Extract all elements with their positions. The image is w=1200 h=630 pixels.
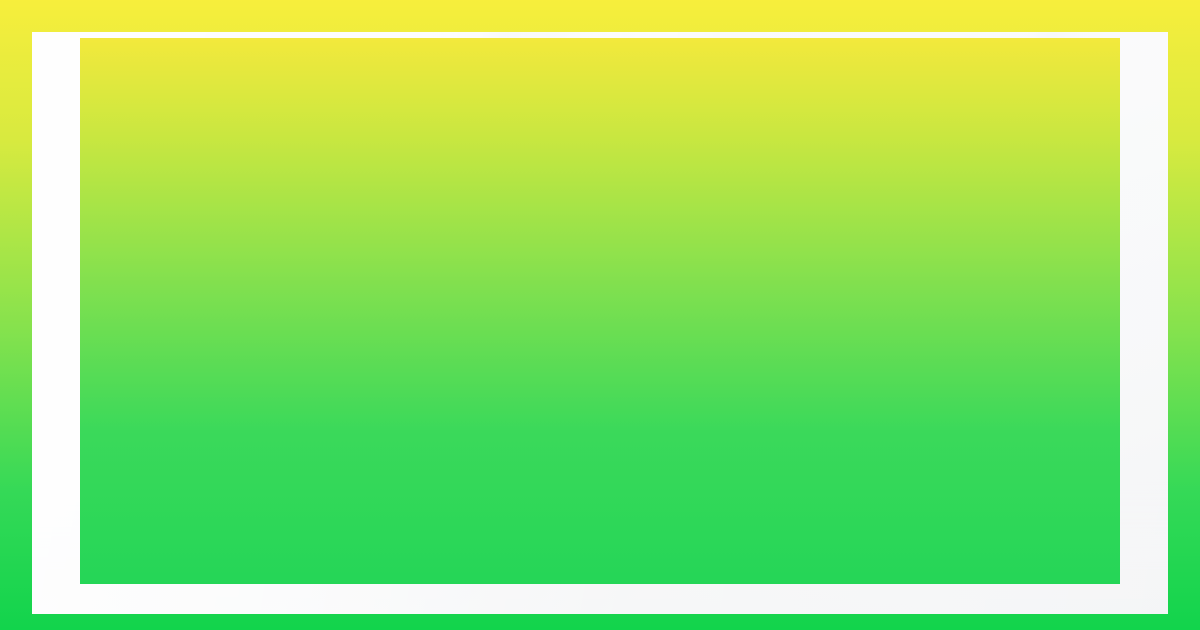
headline-line-2: 분석! 어떤 작품? (120, 310, 1080, 380)
headline-line1-part2: 명작 비교 (609, 240, 836, 305)
headline-line-1: 흥행작 vs 명작 비교 (120, 238, 1080, 310)
page-title: 흥행작 vs 명작 비교 분석! 어떤 작품? (120, 238, 1080, 380)
social-card-canvas: Week 0 Week 1 Week 2 Week 3 Week 4 Week … (0, 0, 1200, 630)
headline-line1-part1: 흥행작 (364, 240, 523, 305)
headline-vs-label: vs (538, 247, 593, 303)
